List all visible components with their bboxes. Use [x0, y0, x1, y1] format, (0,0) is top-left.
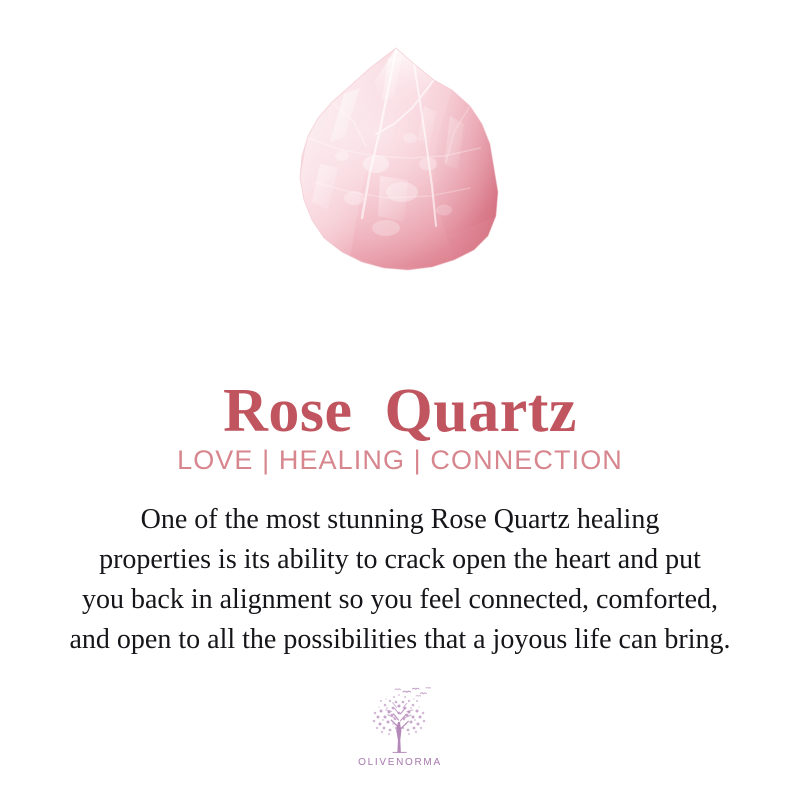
crystal-faces [284, 46, 516, 282]
keywords-line: LOVE | HEALING | CONNECTION [0, 444, 800, 476]
brand-logo: OLIVENORMA [0, 684, 800, 768]
page-title: Rose Quartz [0, 378, 800, 444]
rose-quartz-crystal-icon [284, 46, 516, 282]
birds-icon [395, 687, 431, 696]
crystal-image-container [0, 46, 800, 286]
product-description: One of the most stunning Rose Quartz hea… [32, 500, 768, 660]
description-line-3: you back in alignment so you feel connec… [32, 580, 768, 620]
brand-name: OLIVENORMA [358, 757, 442, 768]
description-line-4: and open to all the possibilities that a… [32, 620, 768, 660]
description-line-2: properties is its ability to crack open … [32, 540, 768, 580]
product-info-card: Rose Quartz LOVE | HEALING | CONNECTION … [0, 0, 800, 800]
description-line-1: One of the most stunning Rose Quartz hea… [32, 500, 768, 540]
tree-of-life-icon [359, 684, 441, 754]
